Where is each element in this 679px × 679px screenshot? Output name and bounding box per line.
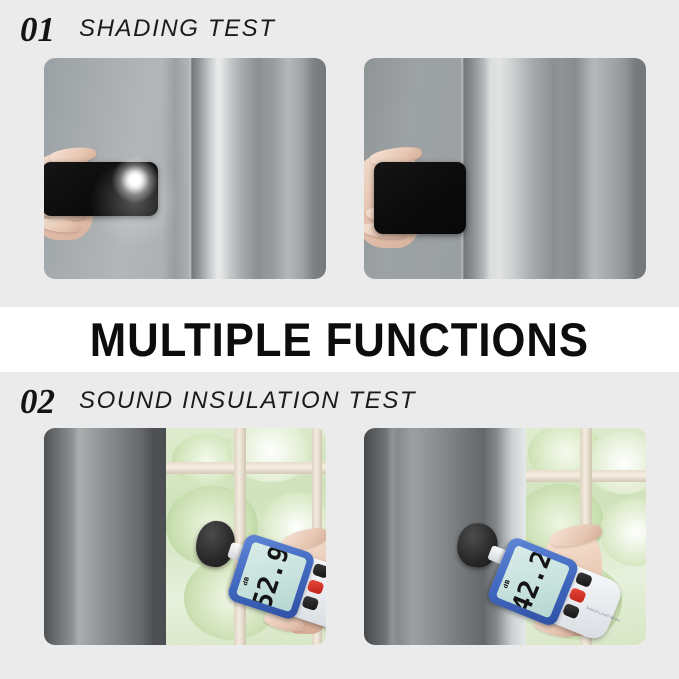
section-number-01: 01 — [20, 12, 55, 47]
photo-shading-light-visible: hand holding phone with flashlight on be… — [44, 58, 326, 279]
section-title-01: SHADING TEST — [79, 17, 276, 41]
banner-title: MULTIPLE FUNCTIONS — [90, 316, 589, 363]
lcd-reading-open: 52.9 — [249, 542, 295, 612]
product-infographic: 01 SHADING TEST hand holding phone with … — [0, 0, 679, 679]
photo-sound-behind-curtain: 42.2 dB Sound Level Meter sound level me… — [364, 428, 646, 645]
photo-sound-open-window: 52.9 dB Sound Level Meter sound level me… — [44, 428, 326, 645]
section-title-02: SOUND INSULATION TEST — [79, 389, 416, 413]
photo-shading-light-blocked: hand holding phone with flashlight on be… — [364, 58, 646, 279]
section-number-02: 02 — [20, 384, 55, 419]
section-heading-02: 02 SOUND INSULATION TEST — [0, 372, 679, 430]
banner-multiple-functions: MULTIPLE FUNCTIONS — [0, 307, 679, 372]
section-heading-01: 01 SHADING TEST — [0, 0, 679, 58]
